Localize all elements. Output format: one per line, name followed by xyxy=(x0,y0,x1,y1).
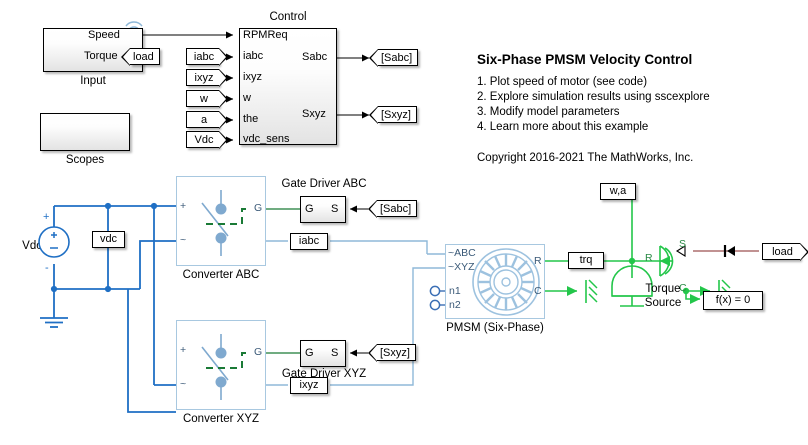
control-port-ixyz: ixyz xyxy=(243,71,262,83)
vdc-minus-sign: - xyxy=(45,262,49,274)
goto-tag-wa[interactable]: w,a xyxy=(600,183,636,200)
converter-abc-label: Converter ABC xyxy=(166,269,276,281)
from-tag-vdc[interactable]: Vdc xyxy=(186,131,219,148)
goto-tag-sabc[interactable]: [Sabc] xyxy=(378,49,418,66)
converter-abc-icon xyxy=(176,176,266,266)
from-tag-load[interactable]: load xyxy=(762,243,800,260)
vdc-plus-sign: + xyxy=(43,211,49,223)
input-port-speed: Speed xyxy=(88,29,120,41)
converter-xyz-icon xyxy=(176,320,266,410)
pmsm-port-c: C xyxy=(534,285,542,297)
control-port-sxyz: Sxyz xyxy=(302,108,326,120)
pmsm-motor-icon xyxy=(470,247,542,317)
torque-source-port-s: S xyxy=(679,238,686,250)
annotation-item-2: 2. Explore simulation results using ssce… xyxy=(477,91,710,103)
gate-driver-xyz-port-s: S xyxy=(331,347,338,359)
gate-driver-xyz-port-g: G xyxy=(305,347,314,359)
control-port-iabc: iabc xyxy=(243,50,263,62)
annotation-item-1: 1. Plot speed of motor (see code) xyxy=(477,76,647,88)
from-tag-sabc[interactable]: [Sabc] xyxy=(377,200,417,217)
from-tag-a[interactable]: a xyxy=(186,111,219,128)
gate-driver-abc-label: Gate Driver ABC xyxy=(278,178,370,190)
pmsm-port-abc: ~ABC xyxy=(448,247,476,259)
goto-tag-sxyz[interactable]: [Sxyz] xyxy=(378,106,417,123)
control-port-vdcsens: vdc_sens xyxy=(243,133,289,145)
pmsm-port-n2: n2 xyxy=(449,299,461,311)
from-tag-iabc[interactable]: iabc xyxy=(186,48,219,65)
goto-tag-vdc-sense[interactable]: vdc xyxy=(92,231,125,248)
goto-tag-trq[interactable]: trq xyxy=(568,252,604,269)
converter-xyz-port-minus: ~ xyxy=(180,378,186,390)
pmsm-port-xyz: ~XYZ xyxy=(448,261,475,273)
converter-abc-port-minus: ~ xyxy=(180,234,186,246)
converter-xyz-label: Converter XYZ xyxy=(166,413,276,425)
control-block[interactable] xyxy=(239,28,337,145)
scopes-block[interactable] xyxy=(40,113,130,151)
converter-xyz-port-plus: + xyxy=(180,344,186,356)
input-block-label: Input xyxy=(43,75,143,87)
simulink-canvas: Speed Torque Input load Scopes iabc ixyz… xyxy=(0,0,808,445)
annotation-title: Six-Phase PMSM Velocity Control xyxy=(477,52,692,67)
from-tag-w[interactable]: w xyxy=(186,90,219,107)
goto-tag-iabc-sense[interactable]: iabc xyxy=(290,233,328,250)
torque-source-label-2: Source xyxy=(628,297,698,309)
converter-abc-port-gate: G xyxy=(254,202,262,214)
torque-source-label-1: Torque xyxy=(628,283,698,295)
gate-driver-abc-port-s: S xyxy=(331,203,338,215)
pmsm-port-n1: n1 xyxy=(449,285,461,297)
vdc-source-icon[interactable] xyxy=(36,218,72,266)
pmsm-block-label: PMSM (Six-Phase) xyxy=(435,322,555,334)
annotation-copyright: Copyright 2016-2021 The MathWorks, Inc. xyxy=(477,152,693,164)
converter-xyz-port-gate: G xyxy=(254,346,262,358)
control-port-w: w xyxy=(243,92,251,104)
solver-configuration-block[interactable]: f(x) = 0 xyxy=(703,291,763,310)
goto-tag-ixyz-sense[interactable]: ixyz xyxy=(290,377,328,394)
goto-tag-load[interactable]: load xyxy=(130,48,160,65)
control-port-sabc: Sabc xyxy=(302,51,327,63)
input-port-torque: Torque xyxy=(84,50,118,62)
control-block-label: Control xyxy=(239,11,337,23)
pmsm-port-r: R xyxy=(534,255,542,267)
gate-driver-abc-port-g: G xyxy=(305,203,314,215)
annotation-item-4: 4. Learn more about this example xyxy=(477,121,648,133)
torque-source-port-r: R xyxy=(645,252,653,264)
from-tag-ixyz[interactable]: ixyz xyxy=(186,69,219,86)
control-port-the: the xyxy=(243,113,258,125)
control-port-rpmreq: RPMReq xyxy=(243,29,288,41)
scopes-block-label: Scopes xyxy=(40,154,130,166)
converter-abc-port-plus: + xyxy=(180,200,186,212)
from-tag-sxyz[interactable]: [Sxyz] xyxy=(377,344,416,361)
annotation-item-3: 3. Modify model parameters xyxy=(477,106,620,118)
